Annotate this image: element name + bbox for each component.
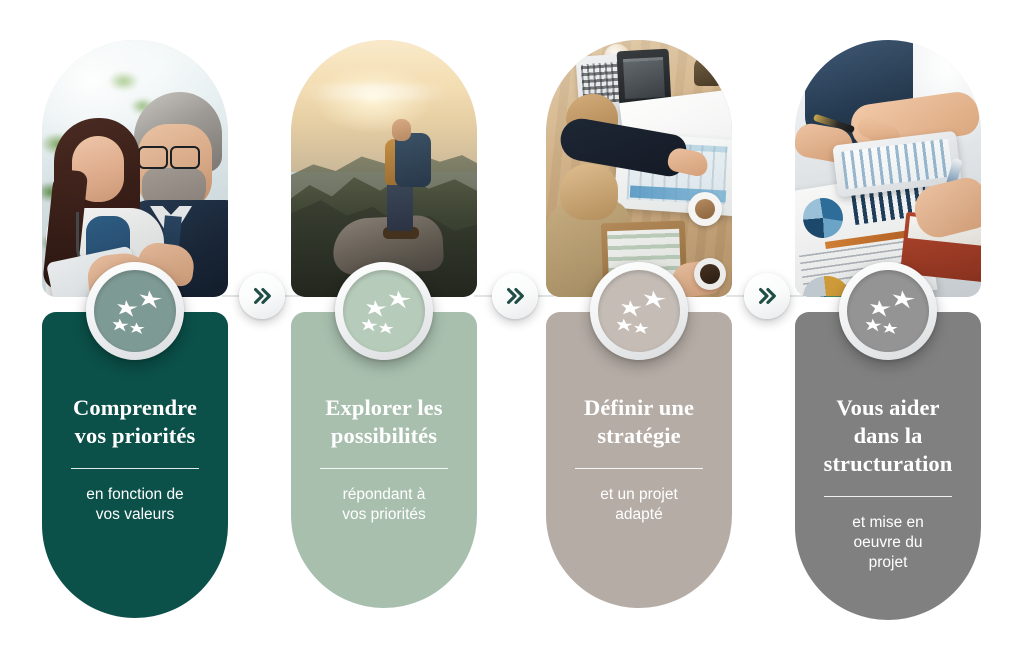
step-divider-1 — [71, 468, 199, 469]
photo-hiker-on-cliff — [291, 40, 477, 297]
bnp-paribas-four-stars-icon — [856, 279, 920, 343]
process-step-1[interactable]: Comprendre vos priorités en fonction de … — [42, 40, 228, 620]
double-chevron-right-icon — [251, 285, 273, 307]
brand-badge-2 — [335, 262, 433, 360]
bnp-paribas-four-stars-icon — [103, 279, 167, 343]
step-title-1: Comprendre vos priorités — [56, 394, 214, 450]
double-chevron-right-icon — [504, 285, 526, 307]
step-connector-2-3[interactable] — [492, 273, 538, 319]
step-connector-1-2[interactable] — [239, 273, 285, 319]
step-divider-3 — [575, 468, 703, 469]
brand-badge-1 — [86, 262, 184, 360]
process-step-3[interactable]: Définir une stratégie et un projet adapt… — [546, 40, 732, 620]
photo-two-professionals-talking — [42, 40, 228, 297]
step-subtitle-1: en fonction de vos valeurs — [56, 485, 214, 525]
step-divider-4 — [824, 496, 952, 497]
photo-business-meeting-tablet-charts — [795, 40, 981, 297]
process-step-4[interactable]: Vous aider dans la structuration et mise… — [795, 40, 981, 620]
photo-team-overhead-desk — [546, 40, 732, 297]
step-subtitle-4: et mise en oeuvre du projet — [809, 513, 967, 573]
step-title-3: Définir une stratégie — [560, 394, 718, 450]
step-subtitle-3: et un projet adapté — [560, 485, 718, 525]
step-subtitle-2: répondant à vos priorités — [305, 485, 463, 525]
brand-badge-3 — [590, 262, 688, 360]
brand-badge-4 — [839, 262, 937, 360]
step-divider-2 — [320, 468, 448, 469]
process-step-2[interactable]: Explorer les possibilités répondant à vo… — [291, 40, 477, 620]
infographic-canvas: Comprendre vos priorités en fonction de … — [0, 0, 1025, 660]
bnp-paribas-four-stars-icon — [352, 279, 416, 343]
step-connector-3-4[interactable] — [744, 273, 790, 319]
double-chevron-right-icon — [756, 285, 778, 307]
step-title-2: Explorer les possibilités — [305, 394, 463, 450]
step-title-4: Vous aider dans la structuration — [809, 394, 967, 478]
bnp-paribas-four-stars-icon — [607, 279, 671, 343]
